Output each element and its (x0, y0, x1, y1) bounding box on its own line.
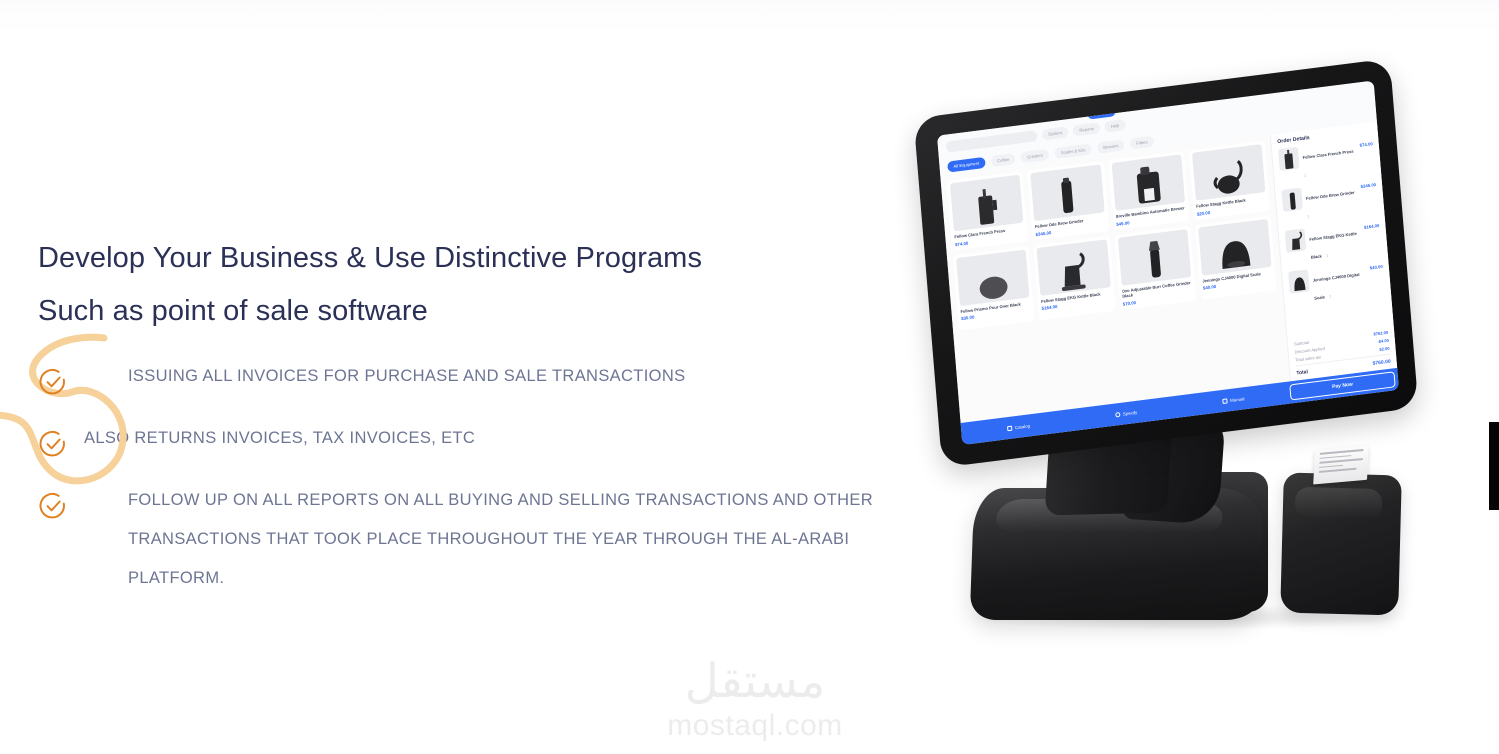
printed-receipt (1313, 446, 1369, 485)
summary-value: $2.00 (1379, 346, 1390, 352)
tab-filters[interactable]: Filters (1130, 136, 1154, 150)
tab-brewers[interactable]: Brewers (1097, 139, 1125, 153)
grinder-icon (1281, 187, 1303, 211)
digital-scale-icon (1288, 269, 1310, 293)
specify-label: Specify (1123, 409, 1138, 416)
french-press-icon (1278, 147, 1300, 171)
summary-value: -$4.00 (1377, 338, 1389, 344)
order-item-name: Jennings CJ4000 Digital Scale (1313, 272, 1360, 301)
order-item-list: Fellow Clara French Press 1 $74.00 (1278, 137, 1388, 338)
feature-item: ISSUING ALL INVOICES FOR PURCHASE AND SA… (38, 366, 878, 404)
order-details-panel: Order Details Fellow Clara French Press … (1270, 121, 1397, 381)
order-item-qty: 1 (1329, 295, 1331, 299)
topbar-chip-help[interactable]: Help (1104, 119, 1125, 133)
product-card[interactable]: Fellow Ode Brew Grinder $345.00 (1027, 161, 1108, 240)
search-input[interactable] (945, 130, 1037, 153)
product-card[interactable]: Jennings CJ4000 Digital Scale $40.00 (1195, 215, 1277, 300)
feature-text: ALSO RETURNS INVOICES, TAX INVOICES, ETC (84, 419, 475, 458)
product-card[interactable]: Fellow Stagg EKG Kettle Black $164.00 (1033, 236, 1115, 321)
product-card[interactable]: Fellow Prismo Pour Over Black $30.00 (953, 246, 1035, 331)
pin-icon (1115, 411, 1120, 417)
order-item-qty: 1 (1326, 254, 1328, 258)
text-content: Develop Your Business & Use Distinctive … (38, 232, 878, 598)
check-circle-icon (38, 367, 68, 397)
headline-line-2: Such as point of sale software (38, 285, 878, 338)
check-circle-icon (38, 429, 68, 459)
summary-value: $762.00 (1373, 330, 1388, 337)
order-line-item[interactable]: Fellow Stagg EKG Kettle Black 1 $164.00 (1285, 219, 1382, 267)
order-item-qty: 1 (1304, 174, 1306, 178)
grid-icon (1007, 425, 1012, 431)
manual-button[interactable]: Manual (1222, 396, 1245, 404)
receipt-printer (1280, 472, 1402, 615)
order-item-name: Fellow Ode Brew Grinder (1306, 190, 1355, 201)
product-card[interactable]: Breville Bambino Automatic Brewer $49.00 (1108, 151, 1189, 230)
pos-terminal-illustration: Options Reports Help Save All Equipment … (900, 80, 1480, 660)
manual-label: Manual (1230, 396, 1245, 403)
feature-item: ALSO RETURNS INVOICES, TAX INVOICES, ETC (38, 428, 878, 466)
specify-button[interactable]: Specify (1115, 409, 1138, 417)
ekg-kettle-icon (1037, 239, 1111, 296)
order-item-name: Fellow Clara French Press (1302, 149, 1353, 160)
burr-grinder-icon (1117, 229, 1191, 286)
headline-line-1: Develop Your Business & Use Distinctive … (38, 232, 878, 285)
order-item-price: $40.00 (1370, 264, 1383, 271)
order-item-price: $164.00 (1364, 223, 1380, 230)
pos-screen: Options Reports Help Save All Equipment … (937, 81, 1399, 445)
product-card[interactable]: Oxo Adjustable Burr Coffee Grinder Black… (1114, 225, 1196, 310)
catalog-label: Catalog (1015, 423, 1030, 430)
grinder-icon (1031, 164, 1105, 221)
feature-text: ISSUING ALL INVOICES FOR PURCHASE AND SA… (128, 357, 685, 396)
topbar-chip-options[interactable]: Options (1042, 126, 1069, 140)
order-line-item[interactable]: Jennings CJ4000 Digital Scale 1 $40.00 (1288, 260, 1385, 308)
filter-disc-icon (956, 249, 1030, 306)
french-press-icon (950, 175, 1024, 232)
terminal-monitor: Options Reports Help Save All Equipment … (914, 58, 1419, 467)
top-ghost-band (0, 0, 1499, 34)
feature-text: FOLLOW UP ON ALL REPORTS ON ALL BUYING A… (128, 481, 878, 598)
feature-list: ISSUING ALL INVOICES FOR PURCHASE AND SA… (38, 366, 878, 598)
summary-label: Subtotal (1294, 340, 1309, 347)
watermark-arabic: مستقل (655, 655, 855, 709)
product-card[interactable]: Fellow Clara French Press $74.00 (947, 171, 1028, 250)
order-item-price: $74.00 (1359, 141, 1372, 148)
order-line-item[interactable]: Fellow Clara French Press 1 $74.00 (1278, 137, 1375, 185)
product-card[interactable]: Fellow Stagg Kettle Black $20.00 (1189, 141, 1270, 220)
summary-label: Total sales tax (1295, 354, 1321, 362)
digital-scale-icon (1198, 219, 1272, 276)
order-item-price: $345.00 (1360, 182, 1376, 189)
espresso-machine-icon (1111, 154, 1185, 211)
total-label: Total (1296, 369, 1308, 376)
tab-all-equipment[interactable]: All Equipment (947, 157, 985, 173)
order-line-item[interactable]: Fellow Ode Brew Grinder 1 $345.00 (1281, 178, 1378, 226)
check-circle-icon (38, 491, 68, 521)
catalog-button[interactable]: Catalog (1007, 423, 1030, 431)
total-value: $760.00 (1372, 359, 1390, 367)
pencil-icon (1222, 398, 1227, 404)
watermark: مستقل mostaql.com (655, 655, 855, 743)
tab-coffee[interactable]: Coffee (991, 153, 1016, 167)
right-edge-scrollbar[interactable] (1489, 422, 1499, 510)
promo-slide: Develop Your Business & Use Distinctive … (0, 0, 1499, 754)
tab-scales-kits[interactable]: Scales & Kits (1054, 143, 1091, 159)
tab-grinders[interactable]: Grinders (1021, 149, 1050, 163)
topbar-chip-reports[interactable]: Reports (1073, 122, 1100, 136)
gooseneck-kettle-icon (1192, 144, 1266, 201)
feature-item: FOLLOW UP ON ALL REPORTS ON ALL BUYING A… (38, 490, 878, 598)
order-item-name: Fellow Stagg EKG Kettle Black (1309, 231, 1357, 260)
ekg-kettle-icon (1285, 228, 1307, 252)
product-grid: Fellow Clara French Press $74.00 Fellow … (940, 135, 1290, 423)
watermark-latin: mostaql.com (655, 709, 855, 743)
order-item-qty: 1 (1307, 215, 1309, 219)
